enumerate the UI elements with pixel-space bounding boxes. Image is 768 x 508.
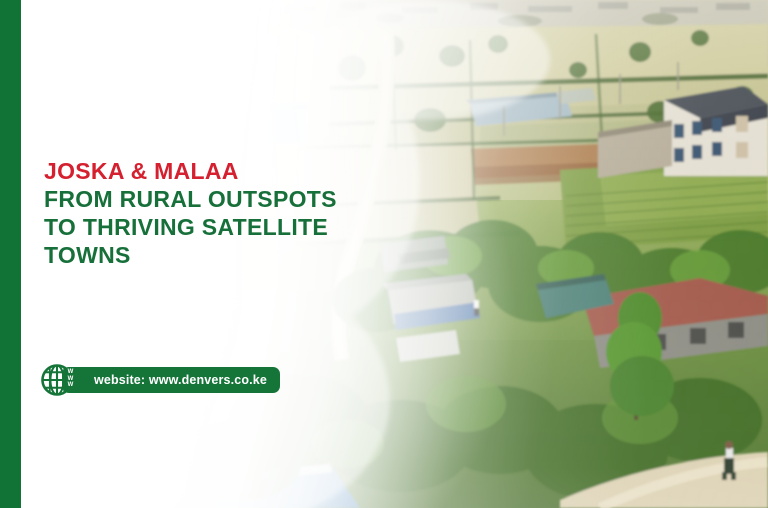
globe-www-label: WWW [66,369,75,389]
headline-line-1: JOSKA & MALAA [44,160,337,183]
marketing-banner: JOSKA & MALAA FROM RURAL OUTSPOTS TO THR… [0,0,768,508]
headline-block: JOSKA & MALAA FROM RURAL OUTSPOTS TO THR… [44,160,337,272]
website-badge-label: website: www.denvers.co.ke [94,373,267,387]
headline-line-4: TOWNS [44,244,337,267]
left-green-accent-bar [0,0,21,508]
headline-line-3: TO THRIVING SATELLITE [44,216,337,239]
headline-line-2: FROM RURAL OUTSPOTS [44,188,337,211]
website-badge[interactable]: website: www.denvers.co.ke WWW [40,362,74,398]
website-badge-pill[interactable]: website: www.denvers.co.ke [62,367,280,393]
